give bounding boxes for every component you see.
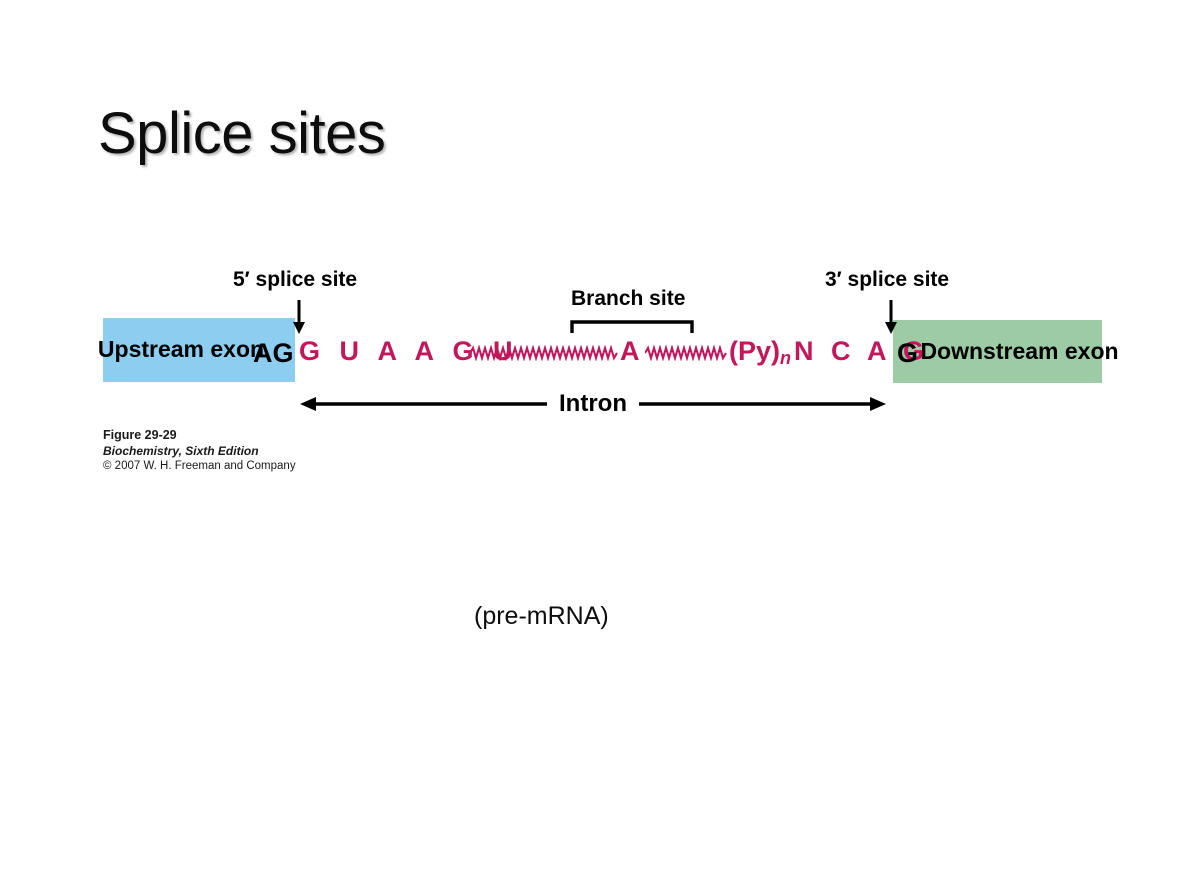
slide-canvas: Splice sites Upstream exon Downstream ex… xyxy=(0,0,1202,876)
caption-figure-number: Figure 29-29 xyxy=(103,428,296,444)
exon-end-ag-text: AG xyxy=(253,338,294,369)
intron-wavy-line-left xyxy=(470,345,622,361)
branch-site-label: Branch site xyxy=(571,287,685,311)
five-prime-arrow-icon xyxy=(291,300,307,334)
pre-mrna-note: (pre-mRNA) xyxy=(474,602,609,631)
branch-point-a-text: A xyxy=(620,336,640,367)
upstream-exon-label: Upstream exon xyxy=(98,337,264,363)
three-prime-splice-site-label: 3′ splice site xyxy=(825,268,949,292)
three-prime-arrow-icon xyxy=(883,300,899,334)
downstream-exon-label: Downstream exon xyxy=(920,339,1118,365)
intron-wavy-line-right xyxy=(645,345,731,361)
five-prime-splice-site-label: 5′ splice site xyxy=(233,268,357,292)
polypyrimidine-subscript: n xyxy=(780,348,791,368)
splice-site-diagram: Upstream exon Downstream exon AG G U A A… xyxy=(0,0,1202,876)
exon-start-g-text: G xyxy=(897,338,918,369)
branch-site-bracket xyxy=(570,320,694,334)
polypyrimidine-text: (Py) xyxy=(729,336,780,366)
caption-source: Biochemistry, Sixth Edition xyxy=(103,444,296,459)
intron-span: Intron xyxy=(300,389,886,419)
caption-copyright: © 2007 W. H. Freeman and Company xyxy=(103,459,296,474)
intron-label: Intron xyxy=(547,389,639,418)
figure-caption: Figure 29-29 Biochemistry, Sixth Edition… xyxy=(103,428,296,474)
